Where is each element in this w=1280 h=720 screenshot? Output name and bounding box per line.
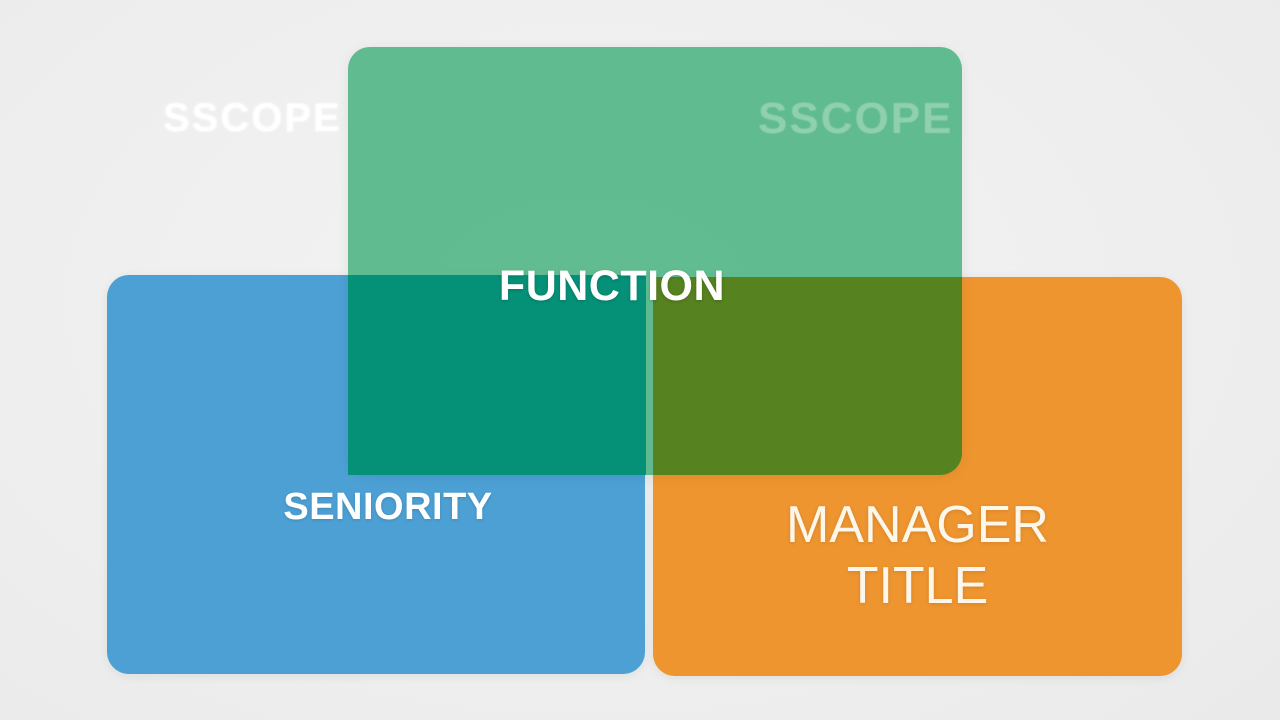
label-seniority: SENIORITY [107, 486, 669, 529]
watermark-left: SSCOPE [163, 96, 342, 141]
diagram-canvas: SSCOPE SSCOPE FUNCTION SENIORITY MANAGER… [0, 0, 1280, 720]
block-function[interactable] [348, 47, 962, 475]
label-manager-title: MANAGER TITLE [653, 495, 1182, 618]
label-manager-title-line-1: MANAGER [653, 495, 1182, 556]
label-function: FUNCTION [0, 262, 1252, 311]
label-manager-title-line-2: TITLE [653, 556, 1182, 617]
